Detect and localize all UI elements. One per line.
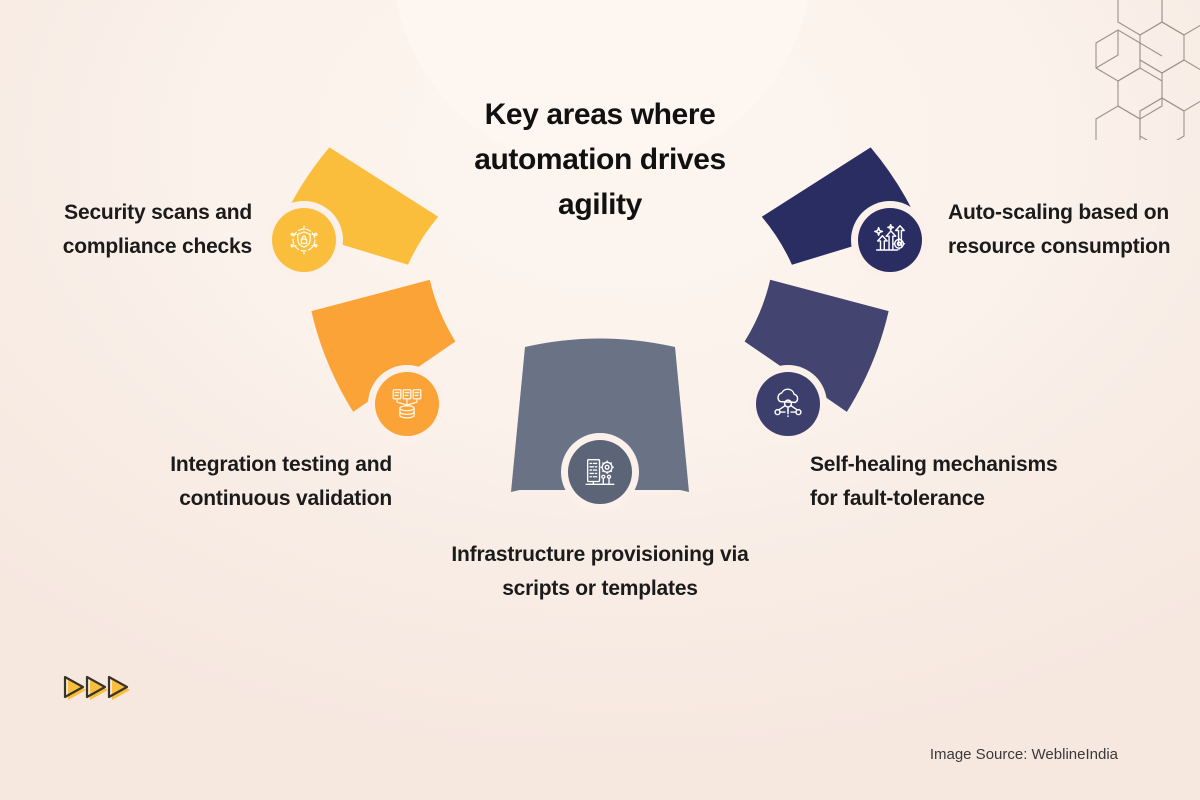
cloud-alert-network-icon (769, 385, 807, 423)
infographic-canvas: Key areas where automation drives agilit… (0, 0, 1200, 800)
segment-icon-integration[interactable] (375, 372, 439, 436)
segment-icon-self-healing[interactable] (756, 372, 820, 436)
triple-chevron-arrows-icon (62, 672, 144, 708)
growth-arrows-gear-icon (871, 221, 909, 259)
label-self-healing: Self-healing mechanisms for fault-tolera… (810, 448, 1060, 516)
segment-icon-security[interactable] (272, 208, 336, 272)
label-integration: Integration testing and continuous valid… (150, 448, 392, 516)
segment-icon-auto-scaling[interactable] (858, 208, 922, 272)
segment-icon-infrastructure[interactable] (568, 440, 632, 504)
label-infrastructure: Infrastructure provisioning via scripts … (450, 538, 750, 606)
server-gear-icon (581, 453, 619, 491)
documents-database-icon (388, 385, 426, 423)
image-source-caption: Image Source: WeblineIndia (930, 746, 1118, 763)
shield-lock-network-icon (285, 221, 323, 259)
page-title: Key areas where automation drives agilit… (430, 92, 770, 227)
label-auto-scaling: Auto-scaling based on resource consumpti… (948, 196, 1178, 264)
label-security: Security scans and compliance checks (48, 196, 252, 264)
